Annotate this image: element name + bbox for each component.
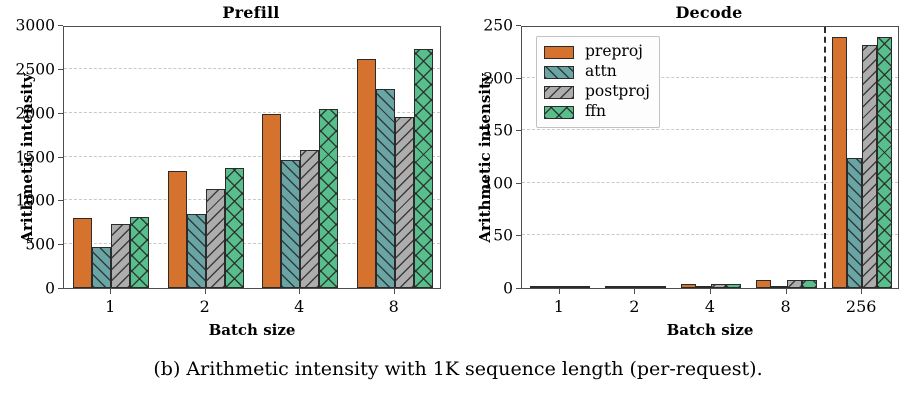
x-tick-mark [394,289,395,294]
bar-preproj-8 [756,280,771,288]
y-tick-mark [516,183,521,184]
bar-preproj-2 [605,286,620,288]
legend-item-attn[interactable]: attn [544,62,650,82]
postproj-swatch [544,86,574,99]
vertical-separator-line [824,27,826,288]
bar-ffn-8 [414,49,433,288]
bar-attn-2 [620,286,635,288]
x-axis-label-decode: Batch size [667,321,754,339]
bar-postproj-2 [635,286,650,288]
bar-preproj-1 [530,286,545,288]
y-tick-label: 0 [503,281,513,297]
bars-prefill [64,27,440,288]
y-tick-mark [58,200,63,201]
y-tick-mark [58,288,63,289]
bar-attn-256 [847,158,862,288]
x-tick-label: 1 [105,299,115,315]
x-tick-label: 4 [294,299,304,315]
y-tick-mark [516,130,521,131]
x-tick-label: 8 [781,299,791,315]
panels-container: Prefill 050010001500200025003000 1248 Ar… [0,0,916,350]
bar-postproj-4 [300,150,319,288]
panel-decode: Decode 050100150200250 1248256 Arithmeti… [458,0,916,350]
bar-ffn-256 [877,37,892,288]
bar-postproj-2 [206,189,225,289]
legend-label: postproj [585,84,650,100]
y-tick-mark [58,25,63,26]
x-tick-mark [559,289,560,294]
panel-prefill: Prefill 050010001500200025003000 1248 Ar… [0,0,458,350]
panel-title-decode: Decode [518,3,900,22]
bar-preproj-4 [681,284,696,288]
bar-postproj-256 [862,45,877,288]
bar-ffn-8 [802,280,817,288]
y-tick-mark [516,25,521,26]
bar-attn-4 [696,286,711,288]
y-tick-mark [516,235,521,236]
bar-ffn-4 [319,109,338,288]
x-tick-mark [861,289,862,294]
y-axis-label-prefill: Arithmetic intensity [18,73,36,242]
x-tick-label: 4 [705,299,715,315]
y-tick-label: 0 [45,281,55,297]
legend-item-preproj[interactable]: preproj [544,42,650,62]
y-tick-label: 250 [483,18,513,34]
preproj-swatch [544,46,574,59]
bar-preproj-8 [357,59,376,288]
y-tick-mark [516,78,521,79]
panel-title-prefill: Prefill [60,3,442,22]
bar-preproj-4 [262,114,281,288]
bar-postproj-8 [787,280,802,288]
y-axis-label-decode: Arithmetic intensity [476,73,494,242]
x-tick-label: 1 [554,299,564,315]
y-tick-mark [58,69,63,70]
x-tick-mark [710,289,711,294]
x-tick-mark [205,289,206,294]
figure: Prefill 050010001500200025003000 1248 Ar… [0,0,916,416]
bar-ffn-2 [225,168,244,288]
legend-item-ffn[interactable]: ffn [544,102,650,122]
bar-ffn-1 [130,217,149,288]
ffn-swatch [544,106,574,119]
bar-attn-4 [281,160,300,288]
bar-ffn-4 [726,284,741,288]
y-tick-mark [58,157,63,158]
legend-label: ffn [585,104,606,120]
x-tick-label: 2 [629,299,639,315]
legend-label: attn [585,64,617,80]
bar-ffn-2 [651,286,666,288]
x-tick-mark [786,289,787,294]
figure-caption: (b) Arithmetic intensity with 1K sequenc… [0,358,916,380]
bar-postproj-8 [395,117,414,288]
bar-preproj-256 [832,37,847,288]
x-tick-label: 2 [200,299,210,315]
bar-attn-2 [187,214,206,288]
attn-swatch [544,66,574,79]
bar-attn-8 [771,286,786,288]
plot-area-prefill [63,26,441,289]
y-tick-label: 3000 [16,18,55,34]
x-axis-label-prefill: Batch size [209,321,296,339]
x-tick-mark [634,289,635,294]
bar-preproj-2 [168,171,187,288]
bar-postproj-4 [711,284,726,288]
bar-postproj-1 [560,286,575,288]
x-tick-mark [299,289,300,294]
x-tick-mark [110,289,111,294]
x-tick-label: 8 [389,299,399,315]
y-tick-mark [58,244,63,245]
bar-attn-1 [545,286,560,288]
bar-preproj-1 [73,218,92,288]
bar-attn-1 [92,247,111,288]
y-tick-label: 50 [493,229,513,245]
bar-attn-8 [376,89,395,288]
bar-postproj-1 [111,224,130,288]
x-tick-label: 256 [846,299,877,315]
y-tick-mark [516,288,521,289]
legend-label: preproj [585,44,643,60]
legend: preprojattnpostprojffn [536,36,660,128]
legend-item-postproj[interactable]: postproj [544,82,650,102]
y-tick-mark [58,113,63,114]
bar-ffn-1 [575,286,590,288]
